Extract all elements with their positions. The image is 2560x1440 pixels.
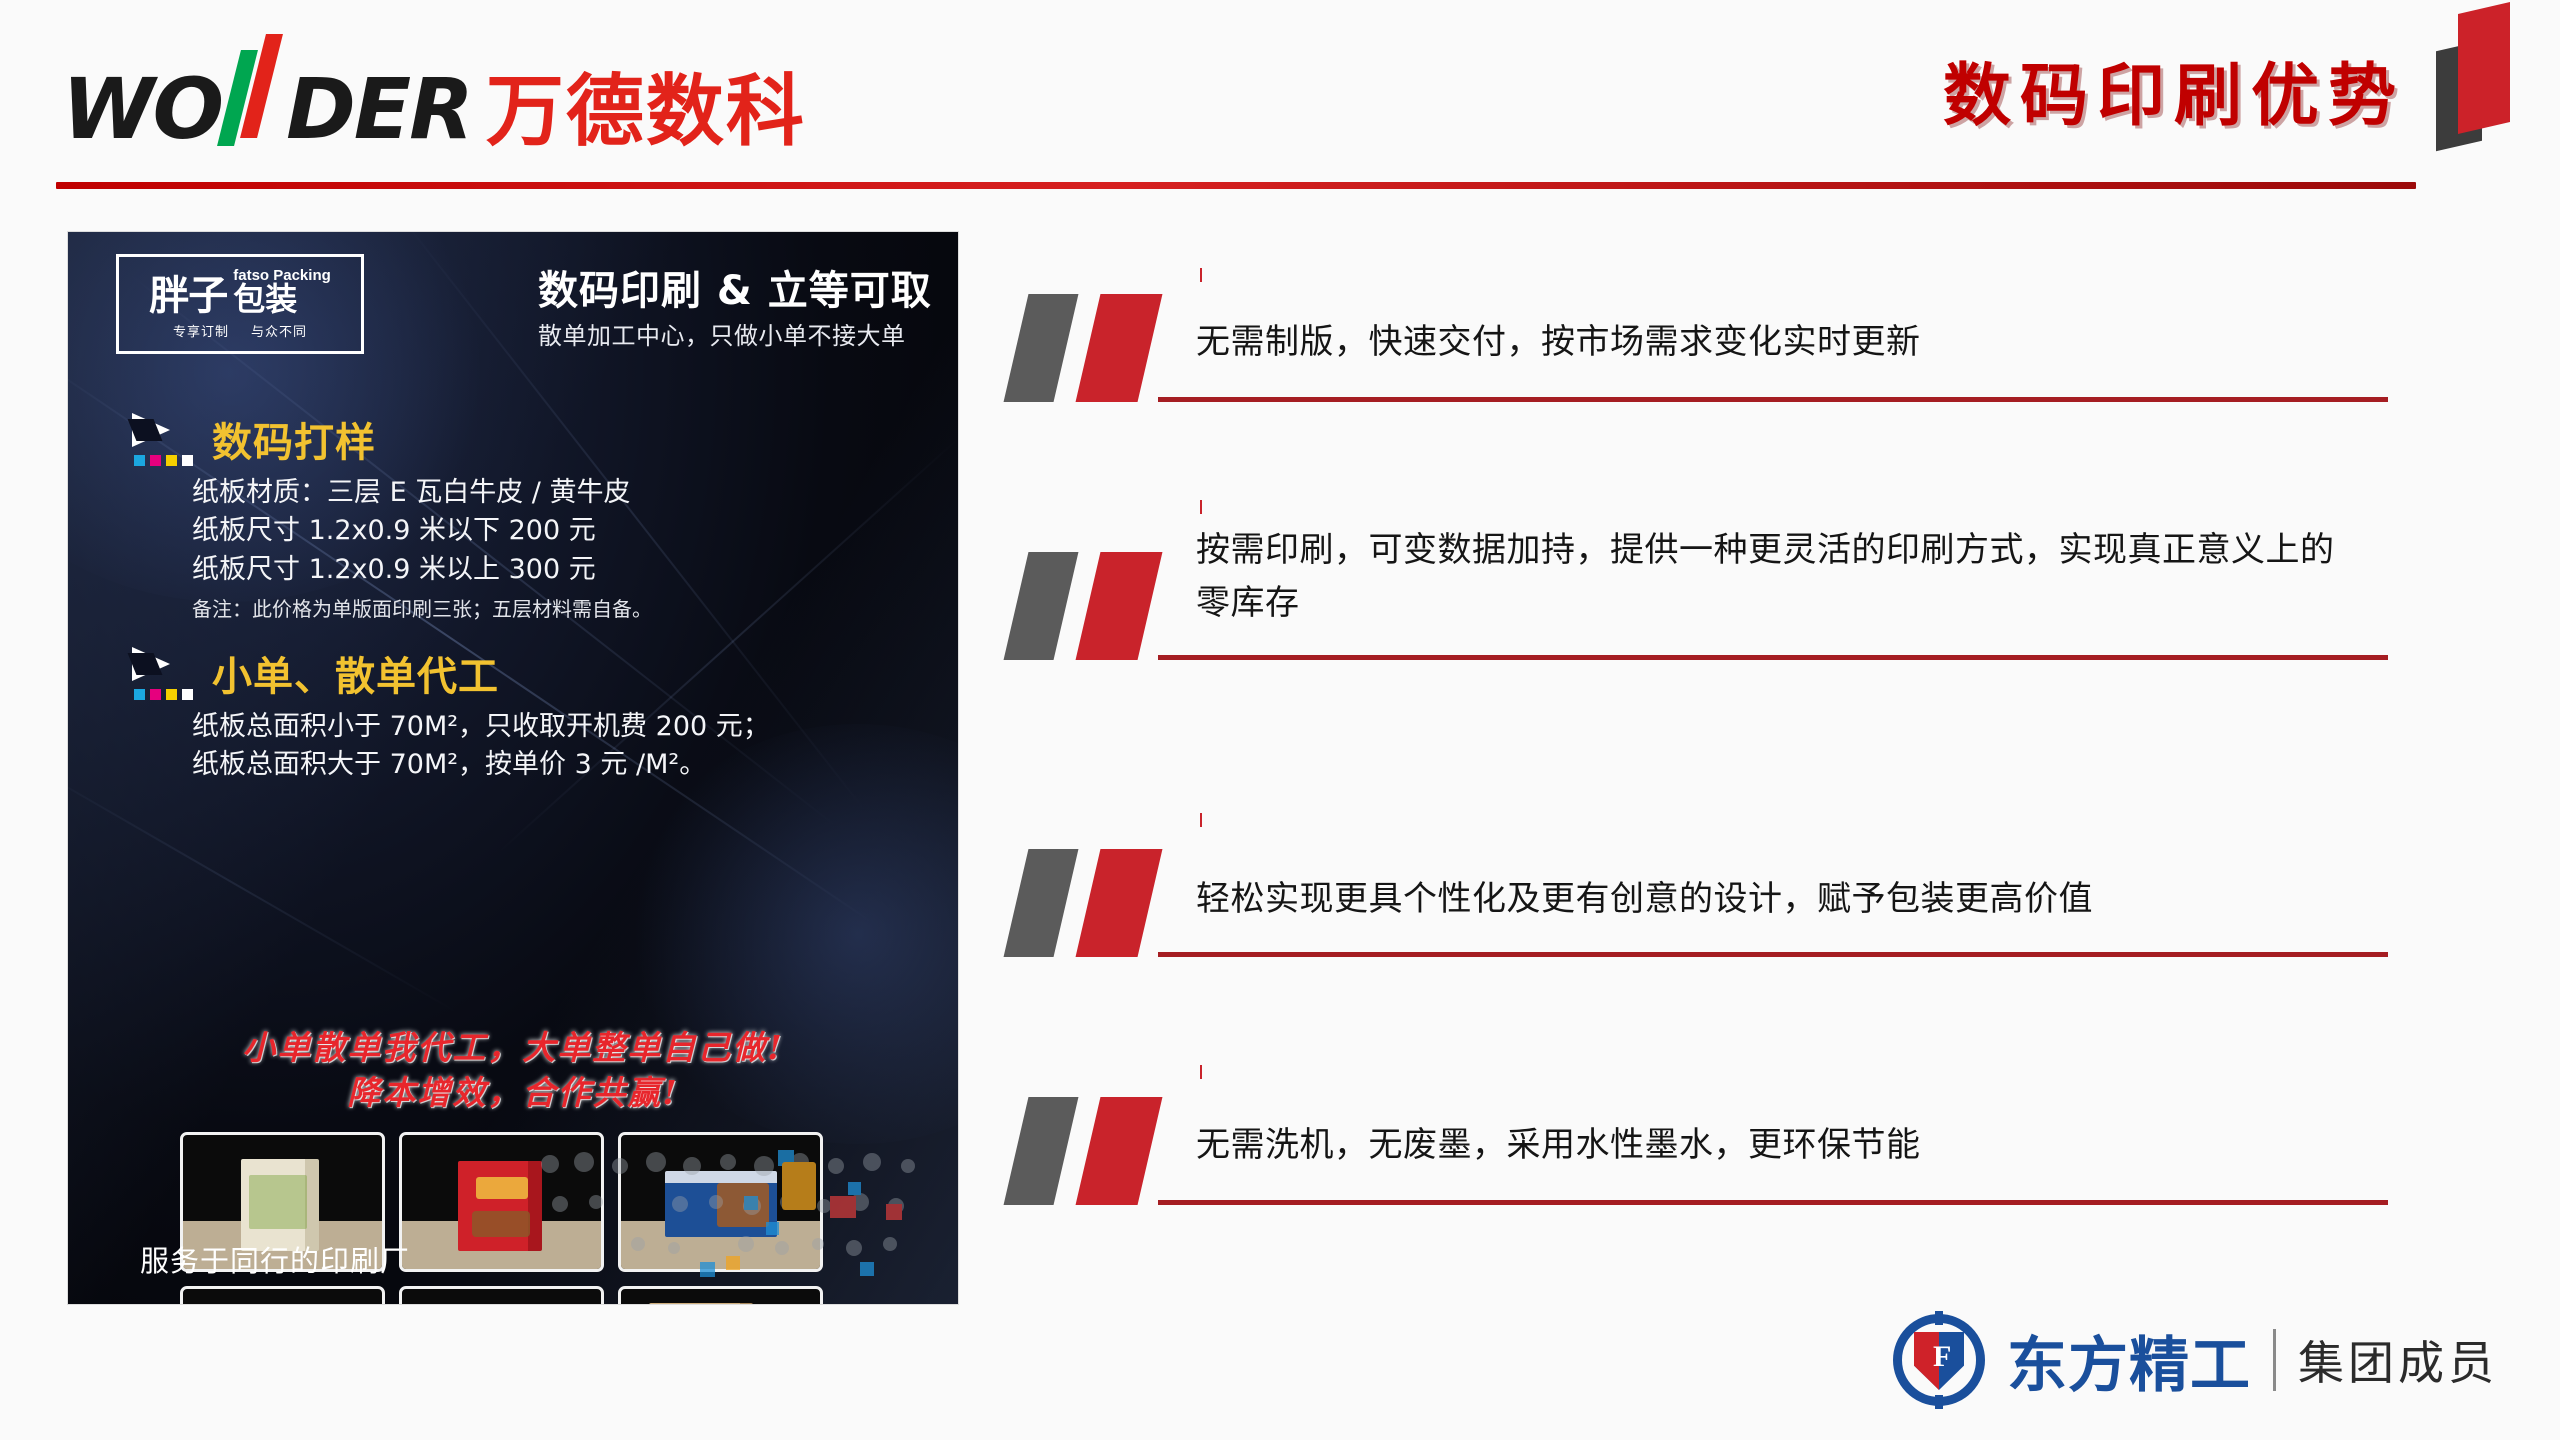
section-line: 纸板总面积小于 70M²，只收取开机费 200 元； (192, 708, 770, 746)
group-member-logo: F 东方精工 集团成员 (1893, 1314, 2498, 1406)
slogan-line-2: 降本增效，合作共赢! (68, 1071, 958, 1116)
section-line: 纸板总面积大于 70M²，按单价 3 元 /M²。 (192, 746, 770, 784)
bullet-text: 轻松实现更具个性化及更有创意的设计，赋予包装更高价值 (1196, 873, 2376, 926)
slogan-line-1: 小单散单我代工，大单整单自己做! (68, 1026, 958, 1071)
bullet-tick-mark (1200, 813, 1202, 827)
group-member-label: 集团成员 (2298, 1327, 2498, 1393)
fatso-logo-zh: 胖子 (149, 277, 227, 315)
bullet-slash-marks-icon (1008, 1093, 1188, 1205)
section-line: 纸板尺寸 1.2x0.9 米以上 300 元 (192, 551, 652, 589)
bullet-slash-marks-icon (1008, 548, 1188, 660)
company-logo: WO DER 万德数科 (62, 52, 806, 151)
dongfang-shield-emblem-icon: F (1893, 1314, 1985, 1406)
promotional-poster-image: 胖子 fatso Packing 包装 专享订制 与众不同 数码印刷 & 立等可… (68, 232, 958, 1304)
fatso-logo-zh2: 包装 (233, 283, 297, 315)
poster-headline: 数码印刷 & 立等可取 (538, 258, 932, 316)
poster-footer-text: 服务于同行的印刷厂 (140, 1238, 410, 1280)
advantages-list: 无需制版，快速交付，按市场需求变化实时更新 按需印刷，可变数据加持，提供一种更灵… (1000, 0, 2470, 1440)
poster-subheadline: 散单加工中心，只做小单不接大单 (538, 316, 906, 351)
fatso-logo-tagline-right: 与众不同 (251, 321, 307, 340)
dot-matrix-decoration (530, 1144, 950, 1294)
chevron-cmyk-icon (130, 411, 196, 467)
logo-wordmark-part2: DER (286, 67, 472, 151)
poster-header: 胖子 fatso Packing 包装 专享订制 与众不同 数码印刷 & 立等可… (68, 232, 958, 372)
bullet-underline (1158, 655, 2388, 660)
fatso-logo-tagline-left: 专享订制 (173, 321, 229, 340)
bullet-tick-mark (1200, 1065, 1202, 1079)
bullet-underline (1158, 1200, 2388, 1205)
bullet-text: 按需印刷，可变数据加持，提供一种更灵活的印刷方式，实现真正意义上的零库存 (1196, 524, 2336, 629)
bullet-text: 无需洗机，无废墨，采用水性墨水，更环保节能 (1196, 1119, 2376, 1172)
poster-section-digital-proofing: 数码打样 纸板材质：三层 E 瓦白牛皮 / 黄牛皮 纸板尺寸 1.2x0.9 米… (130, 410, 652, 622)
bullet-underline (1158, 397, 2388, 402)
bullet-tick-mark (1200, 500, 1202, 514)
footer-divider (2273, 1329, 2276, 1391)
logo-n-accent-icon (223, 52, 285, 138)
section-title: 小单、散单代工 (212, 644, 499, 702)
section-title: 数码打样 (212, 410, 376, 468)
group-brand-name: 东方精工 (2007, 1317, 2251, 1404)
section-line: 纸板材质：三层 E 瓦白牛皮 / 黄牛皮 (192, 474, 652, 512)
bullet-tick-mark (1200, 268, 1202, 282)
section-note: 备注：此价格为单版面印刷三张；五层材料需自备。 (192, 593, 652, 622)
slide-canvas: WO DER 万德数科 数码印刷优势 胖子 fatso P (0, 0, 2560, 1440)
logo-wordmark: WO DER (62, 52, 472, 151)
bullet-underline (1158, 952, 2388, 957)
bullet-slash-marks-icon (1008, 845, 1188, 957)
product-photo (180, 1286, 385, 1304)
bullet-text: 无需制版，快速交付，按市场需求变化实时更新 (1196, 316, 2376, 369)
poster-slogan: 小单散单我代工，大单整单自己做! 降本增效，合作共赢! (68, 1026, 958, 1115)
fatso-packing-logo: 胖子 fatso Packing 包装 专享订制 与众不同 (116, 254, 364, 354)
logo-wordmark-part1: WO (62, 67, 222, 151)
bullet-slash-marks-icon (1008, 290, 1188, 402)
logo-chinese-name: 万德数科 (486, 73, 806, 151)
chevron-cmyk-icon (130, 645, 196, 701)
section-line: 纸板尺寸 1.2x0.9 米以下 200 元 (192, 512, 652, 550)
poster-section-small-batch-oem: 小单、散单代工 纸板总面积小于 70M²，只收取开机费 200 元； 纸板总面积… (130, 644, 770, 785)
